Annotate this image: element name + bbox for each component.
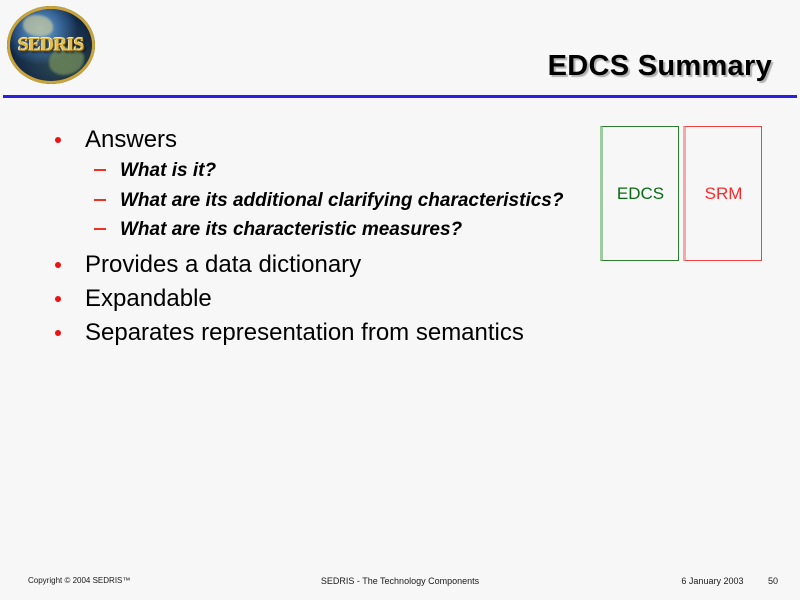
bullet-item: Answers (48, 126, 568, 154)
sub-bullet-label: What are its additional clarifying chara… (120, 190, 563, 211)
bullet-label: Separates representation from semantics (85, 319, 524, 346)
footer-meta: 6 January 2003 50 (681, 576, 778, 586)
sub-bullet-dash-icon (94, 228, 106, 230)
bullet-dot-icon (55, 137, 61, 143)
bullet-dot-icon (55, 330, 61, 336)
sub-bullet-label: What is it? (120, 160, 216, 181)
diagram-box-edcs: EDCS (600, 126, 679, 261)
footer-date: 6 January 2003 (681, 576, 743, 586)
sub-bullet-list: What is it? What are its additional clar… (48, 160, 568, 241)
bullet-label: Expandable (85, 285, 212, 312)
bullet-dot-icon (55, 296, 61, 302)
sub-bullet-item: What are its additional clarifying chara… (48, 190, 568, 212)
sub-bullet-item: What are its characteristic measures? (48, 219, 568, 241)
bullet-item: Expandable (48, 285, 568, 313)
diagram-box-srm: SRM (683, 126, 762, 261)
edcs-srm-diagram: EDCS SRM (598, 126, 768, 263)
sub-bullet-label: What are its characteristic measures? (120, 219, 462, 240)
diagram-box-edcs-label: EDCS (617, 184, 664, 204)
sedris-logo: SEDRIS (7, 6, 101, 86)
bullet-list: Answers What is it? What are its additio… (48, 126, 568, 353)
bullet-label: Provides a data dictionary (85, 251, 361, 278)
logo-wordmark: SEDRIS (7, 35, 95, 57)
diagram-box-srm-label: SRM (705, 184, 743, 204)
slide: SEDRIS EDCS Summary Answers What is it? … (0, 0, 800, 600)
sub-bullet-dash-icon (94, 199, 106, 201)
slide-number: 50 (768, 576, 778, 586)
sub-bullet-dash-icon (94, 169, 106, 171)
bullet-label: Answers (85, 126, 177, 153)
title-divider (3, 95, 797, 98)
bullet-item: Separates representation from semantics (48, 319, 568, 347)
footer-title: SEDRIS - The Technology Components (0, 576, 800, 586)
page-title: EDCS Summary (548, 50, 772, 83)
sub-bullet-item: What is it? (48, 160, 568, 182)
bullet-item: Provides a data dictionary (48, 251, 568, 279)
bullet-dot-icon (55, 262, 61, 268)
